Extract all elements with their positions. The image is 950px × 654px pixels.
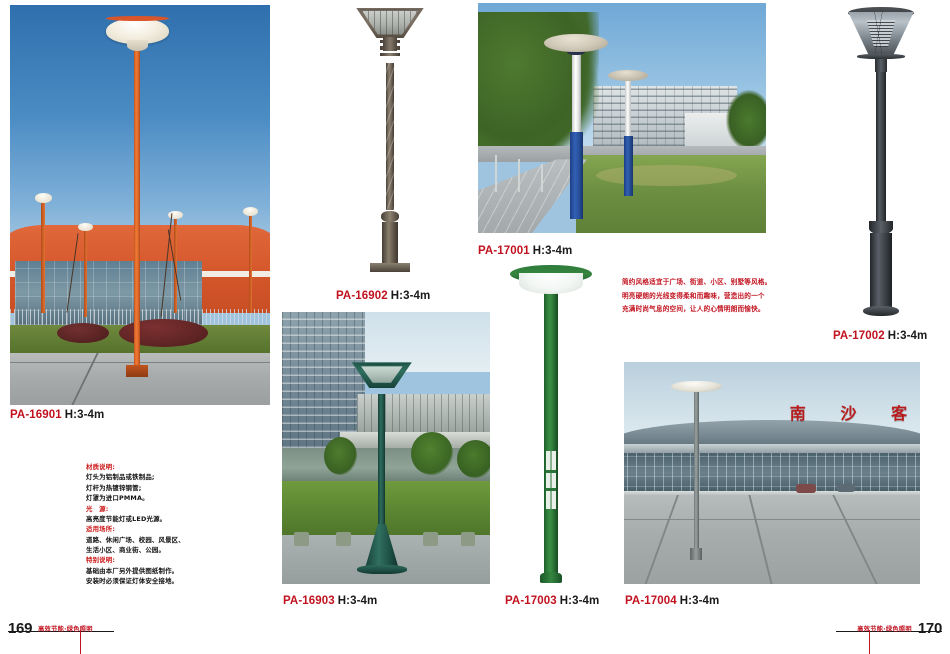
background-pole	[249, 213, 252, 313]
tree-trunk	[518, 159, 520, 191]
lamp-dome-background	[608, 70, 648, 82]
sign-char-2: 沙	[840, 400, 857, 424]
tree	[457, 440, 490, 478]
caption-pa-17002: PA-17002H:3-4m	[833, 330, 927, 342]
marketing-paragraph: 简约风格适宜于广场、街道、小区、别墅等风格。 明亮硬朗的光线变得柔和而趣味，营造…	[622, 276, 802, 317]
base-plate	[863, 306, 898, 316]
tree-trunk	[495, 155, 497, 192]
planter	[423, 532, 438, 546]
pole-foot	[382, 222, 398, 264]
pole-collar	[380, 53, 401, 56]
footer-tagline-left: 高效节能·绿色照明	[38, 624, 93, 633]
page-footer-left: 169 高效节能·绿色照明	[8, 616, 93, 640]
product-photo-pa-17002	[822, 2, 940, 320]
lamp-pole	[544, 291, 559, 577]
parked-vehicle	[796, 484, 817, 493]
tree	[324, 437, 357, 475]
caption-pa-16901: PA-16901H:3-4m	[10, 409, 104, 421]
lamp-ribs	[848, 12, 914, 57]
shrub	[57, 323, 109, 343]
sign-char-3: 客	[891, 400, 908, 424]
page-number-left: 169	[8, 620, 32, 637]
product-code: PA-16902	[336, 290, 388, 302]
product-height: H:3-4m	[533, 245, 573, 257]
spec-line: 生活小区、商业街、公园。	[86, 545, 216, 555]
background-pole	[41, 201, 44, 313]
lamp-pole	[134, 33, 141, 373]
tree-trunk	[541, 164, 543, 192]
sign-char-1: 南	[790, 400, 807, 424]
marketing-line: 明亮硬朗的光线变得柔和而趣味，营造出的一个	[622, 290, 802, 304]
product-height: H:3-4m	[65, 409, 105, 421]
background-lamp-dome	[243, 207, 258, 216]
product-height: H:3-4m	[338, 595, 378, 607]
pole-light-window	[546, 451, 556, 510]
lamp-glass	[362, 11, 418, 35]
product-code: PA-17002	[833, 330, 885, 342]
lamp-neck	[383, 37, 397, 51]
caption-pa-17001: PA-17001H:3-4m	[478, 245, 572, 257]
lamp-dome	[106, 18, 168, 44]
spec-heading-material: 材质说明:	[86, 462, 216, 472]
spec-line: 灯杆为热镀锌钢管;	[86, 483, 216, 493]
spec-heading-usage: 适用场所:	[86, 524, 216, 534]
footer-tagline-right: 高效节能·绿色照明	[857, 624, 912, 633]
spec-line: 高亮度节能灯或LED光源。	[86, 514, 216, 524]
caption-pa-17003: PA-17003H:3-4m	[505, 595, 599, 607]
product-photo-pa-17004: 南 沙 客	[624, 362, 920, 584]
base-plate	[357, 565, 407, 575]
spec-heading-note: 特别说明:	[86, 555, 216, 565]
marketing-line: 简约风格适宜于广场、街道、小区、别墅等风格。	[622, 276, 802, 290]
marketing-line: 充满时尚气息的空间，让人的心情明朗而愉快。	[622, 303, 802, 317]
lamp-pole	[378, 394, 385, 535]
product-height: H:3-4m	[680, 595, 720, 607]
product-height: H:3-4m	[888, 330, 928, 342]
pole-twist-pattern	[386, 63, 394, 210]
specifications-block: 材质说明: 灯头为铝制品或铁制品; 灯杆为热镀锌钢管; 灯罩为进口PMMA。 光…	[86, 462, 216, 587]
product-code: PA-17003	[505, 595, 557, 607]
pole-foot	[690, 548, 702, 559]
page-footer-right: 高效节能·绿色照明 170	[857, 616, 942, 640]
lamp-pole-base	[570, 132, 582, 219]
lawn	[576, 155, 766, 233]
catalog-spread: PA-16901H:3-4m PA-16902H:3-4m	[0, 0, 950, 654]
tree	[411, 432, 453, 476]
roof-eave	[624, 444, 920, 453]
planter	[294, 532, 309, 546]
product-height: H:3-4m	[560, 595, 600, 607]
caption-pa-16903: PA-16903H:3-4m	[283, 595, 377, 607]
parked-vehicle	[837, 484, 855, 492]
product-photo-pa-16901	[10, 5, 270, 405]
planter	[461, 532, 476, 546]
lamp-pole	[876, 72, 885, 221]
product-code: PA-17001	[478, 245, 530, 257]
product-code: PA-16903	[283, 595, 335, 607]
spec-line: 灯头为铝制品或铁制品;	[86, 472, 216, 482]
base-plate	[540, 572, 561, 583]
spec-heading-light-source: 光 源:	[86, 504, 216, 514]
background-pole	[84, 229, 87, 317]
spec-line: 道路、休闲广场、校园、风景区、	[86, 535, 216, 545]
planter	[336, 532, 351, 546]
lamp-neck	[875, 59, 887, 72]
pole-bulge	[381, 211, 400, 222]
page-number-right: 170	[918, 620, 942, 637]
caption-pa-17004: PA-17004H:3-4m	[625, 595, 719, 607]
spec-line: 灯罩为进口PMMA。	[86, 493, 216, 503]
caption-pa-16902: PA-16902H:3-4m	[336, 290, 430, 302]
product-photo-pa-17003	[498, 262, 604, 587]
lamp-base	[126, 365, 148, 377]
base-plate	[370, 263, 409, 271]
spec-line: 基础由本厂另外提供图纸制作。	[86, 566, 216, 576]
spec-line: 安装时必须保证灯体安全接地。	[86, 576, 216, 586]
product-photo-pa-16902	[332, 2, 448, 280]
trees-right	[726, 90, 766, 150]
product-code: PA-16901	[10, 409, 62, 421]
building-sign: 南 沙 客	[790, 398, 908, 427]
shrub	[119, 319, 207, 347]
product-photo-pa-17001	[478, 3, 766, 233]
product-height: H:3-4m	[391, 290, 431, 302]
product-code: PA-17004	[625, 595, 677, 607]
lamp-pole-base-background	[624, 136, 633, 196]
lamp-diffuser	[519, 273, 583, 294]
background-lamp-dome	[35, 193, 52, 203]
paved-plaza	[624, 495, 920, 584]
pole-foot	[870, 233, 892, 309]
product-photo-pa-16903	[282, 312, 490, 584]
lamp-pole	[694, 389, 700, 553]
